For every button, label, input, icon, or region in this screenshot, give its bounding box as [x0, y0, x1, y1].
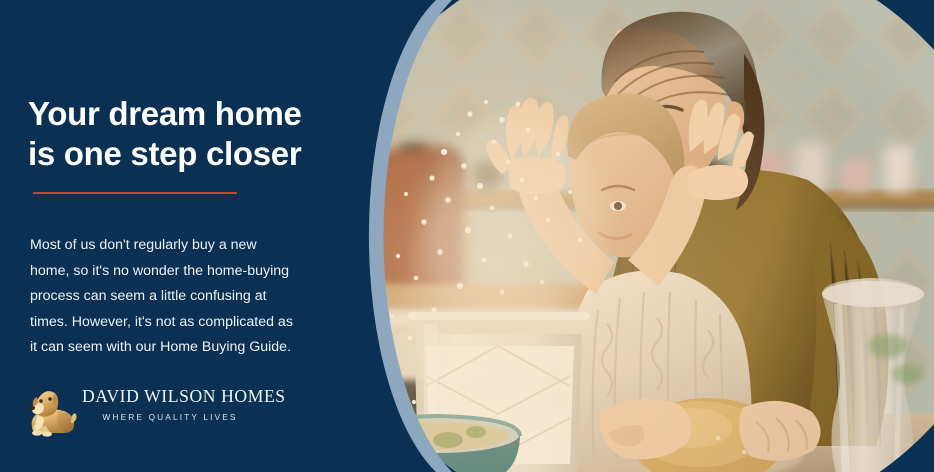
body-paragraph: Most of us don't regularly buy a new hom… [30, 233, 298, 361]
content-column: Your dream home is one step closer Most … [0, 0, 352, 472]
golden-retriever-dog-icon [24, 383, 78, 439]
kitchen-scene-illustration [352, 0, 934, 472]
logo-tagline: WHERE QUALITY LIVES [102, 412, 237, 422]
headline-line-2: is one step closer [28, 134, 348, 174]
brand-logo[interactable]: DAVID WILSON HOMES WHERE QUALITY LIVES [24, 381, 256, 443]
headline-line-1: Your dream home [28, 95, 302, 132]
accent-divider [33, 192, 237, 194]
marketing-banner: Your dream home is one step closer Most … [0, 0, 934, 472]
logo-name: DAVID WILSON HOMES [82, 386, 286, 406]
page-title: Your dream home is one step closer [28, 94, 348, 174]
logo-wordmark: DAVID WILSON HOMES WHERE QUALITY LIVES [82, 385, 258, 425]
